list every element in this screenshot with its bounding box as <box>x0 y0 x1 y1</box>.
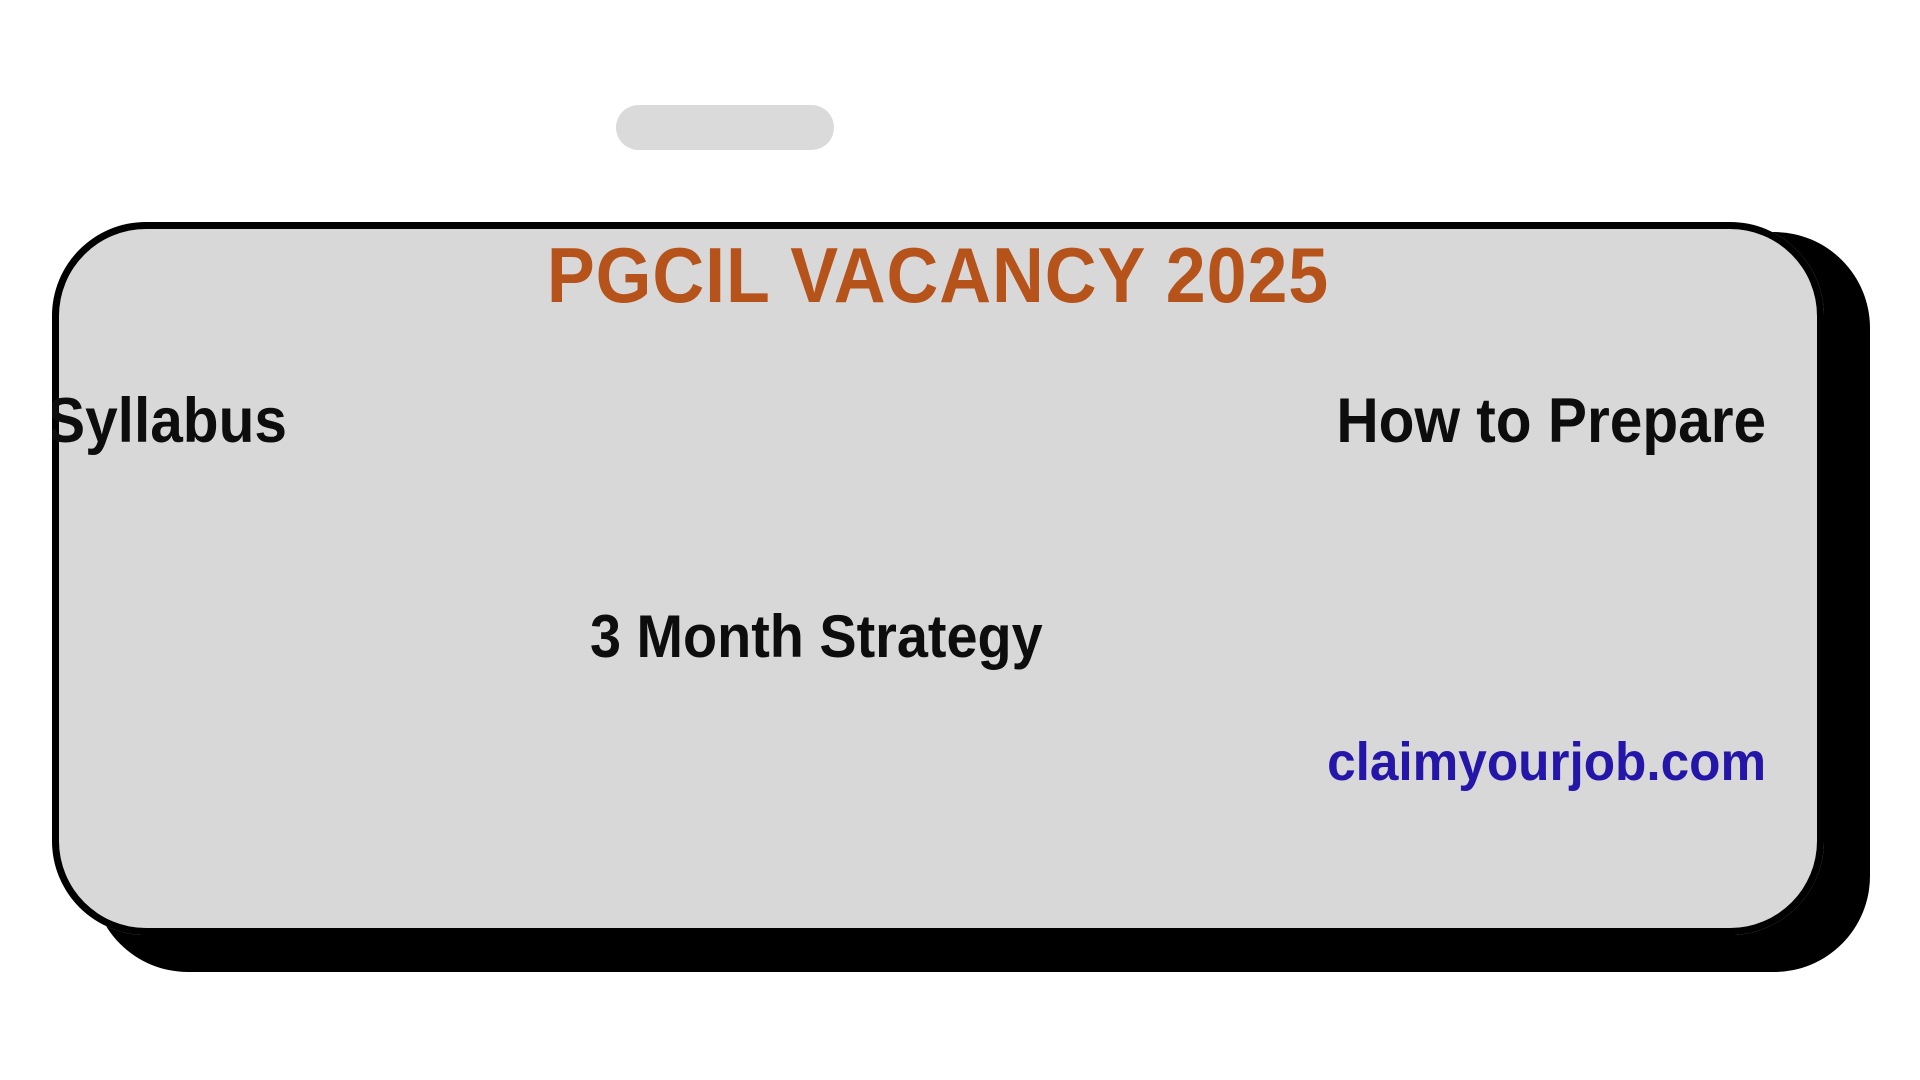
top-pill-decoration <box>616 105 834 150</box>
label-syllabus: Syllabus <box>52 390 287 453</box>
label-how-to-prepare: How to Prepare <box>1336 390 1766 453</box>
website-url[interactable]: claimyourjob.com <box>1327 735 1766 789</box>
label-3-month-strategy: 3 Month Strategy <box>590 607 1043 667</box>
page-title: PGCIL VACANCY 2025 <box>123 236 1753 314</box>
poster-canvas: PGCIL VACANCY 2025 Syllabus How to Prepa… <box>0 0 1920 1080</box>
poster-card: PGCIL VACANCY 2025 Syllabus How to Prepa… <box>52 222 1824 935</box>
